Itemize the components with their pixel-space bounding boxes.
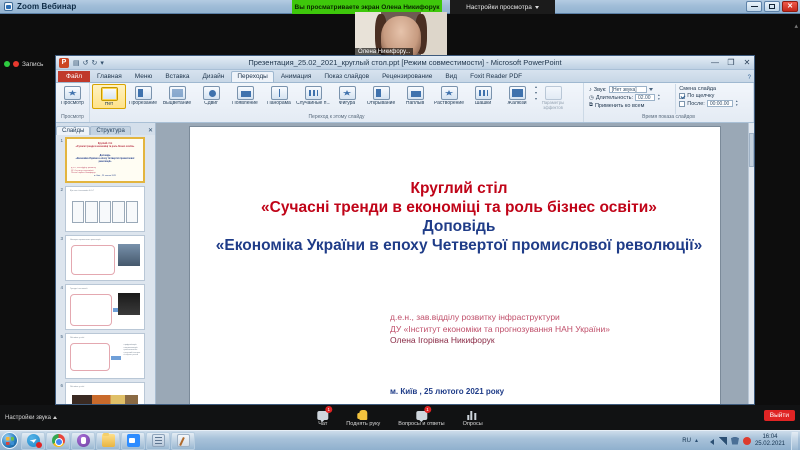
ribbon-tab-design[interactable]: Дизайн <box>196 71 230 82</box>
transition-dissolve[interactable]: Растворение <box>432 84 466 107</box>
word-icon <box>152 434 165 447</box>
view-settings-button[interactable]: Настройки просмотра <box>450 0 555 14</box>
zoom-window-title: Zoom Вебинар <box>17 2 76 11</box>
thumbnail-slide-6[interactable]: Які зміни у світі <box>65 382 145 404</box>
thumb5-list: • цифровізація• автоматизація• робототех… <box>123 344 141 357</box>
transition-shape-label: Фигура <box>339 101 355 107</box>
slide-place-date: м. Київ , 25 лютого 2021 року <box>390 387 504 396</box>
zoom-maximize-button[interactable] <box>764 1 780 12</box>
panel-collapse-arrow-icon[interactable]: ▴ <box>794 22 798 30</box>
transition-cover-label: Наплыв <box>406 101 424 107</box>
slide-title-line-2: «Сучасні тренди в економіці та роль бізн… <box>208 198 710 217</box>
advance-slide-label: Смена слайда <box>679 86 716 92</box>
slide-subtitle-line-1: д.е.н., зав.відділу розвитку інфраструкт… <box>390 312 706 324</box>
transition-random-bars-label: Случайные п... <box>296 101 330 107</box>
qa-button[interactable]: 1 Вопросы и ответы <box>398 408 444 427</box>
powerpoint-window: P ▤ ↺ ↻ ▾ Презентация_25.02_2021_круглый… <box>55 55 755 405</box>
recording-label: Запись <box>22 61 43 68</box>
apply-all-label: Применить ко всем <box>595 103 644 109</box>
taskbar-zoom-button[interactable] <box>121 432 145 450</box>
thumb4-heading: Тренди і технології <box>70 288 140 291</box>
group-caption-timing: Время показа слайдов <box>586 114 751 121</box>
thumb4-box <box>70 294 112 326</box>
speaker-video-tile[interactable]: Олена Никифору... <box>355 12 447 56</box>
leave-meeting-button[interactable]: Выйти <box>764 410 795 421</box>
recording-indicator[interactable]: Запись <box>0 55 58 73</box>
transition-fade[interactable]: Выцветание <box>160 84 194 107</box>
transition-cut-label: Прорезание <box>129 101 157 107</box>
fade-transition-icon <box>169 86 186 100</box>
start-button-icon[interactable] <box>1 432 18 449</box>
viber-icon <box>77 434 90 447</box>
language-indicator[interactable]: RU <box>682 438 691 444</box>
thumbnail-slide-3[interactable]: Четверта промислова революція <box>65 235 145 281</box>
thumbnail-number: 3 <box>58 235 63 241</box>
apply-all-icon: ⧉ <box>589 102 593 109</box>
ppt-minimize-button[interactable]: — <box>710 58 720 67</box>
slide-subtitle-block[interactable]: д.е.н., зав.відділу розвитку інфраструкт… <box>390 312 706 347</box>
polls-icon <box>467 410 478 420</box>
after-row[interactable]: После: 00:00.00 ▴▾ <box>679 100 748 107</box>
transition-random-bars[interactable]: Случайные п... <box>296 84 330 107</box>
current-slide[interactable]: Круглий стіл «Сучасні тренди в економіці… <box>190 127 720 404</box>
taskbar-app-buttons <box>21 432 195 450</box>
chrome-icon <box>52 434 65 447</box>
screen-share-banner-label: Вы просматриваете экран Олена Никифорук <box>295 4 440 11</box>
transition-split-label: Панорама <box>267 101 291 107</box>
thumb1-subtitle: Доповідь«Економіка України в епоху Четве… <box>70 155 140 164</box>
sound-label: Звук: <box>594 87 607 93</box>
ribbon-tab-animation[interactable]: Анимация <box>275 71 318 82</box>
network-icon[interactable] <box>719 437 727 445</box>
gallery-expand-icon[interactable]: ▾ <box>535 96 537 101</box>
windows-taskbar: RU ▴ 16:04 25.02.2021 <box>0 430 800 450</box>
raise-hand-label: Поднять руку <box>346 421 380 427</box>
effect-options-button[interactable]: Параметры эффектов <box>538 84 568 110</box>
transition-uncover-label: Открывание <box>367 101 395 107</box>
slide-title-line-3: Доповідь <box>208 217 710 236</box>
push-transition-icon <box>203 86 220 100</box>
slide-title-line-4: «Економіка України в епоху Четвертої про… <box>208 236 710 255</box>
wipe-transition-icon <box>237 86 254 100</box>
timing-left-column: ♪ Звук: [Нет звука] ◷ Длительность: 02.0… <box>586 84 675 114</box>
slide-area-scrollbar[interactable] <box>748 123 754 404</box>
powerpoint-window-controls: — ❐ ✕ <box>710 58 752 67</box>
thumb1-author: д.е.н., зав.відділу розвиткуДУ «Інститут… <box>71 167 139 175</box>
nav-pane-close-icon[interactable]: ✕ <box>148 127 153 134</box>
ribbon-group-timing: ♪ Звук: [Нет звука] ◷ Длительность: 02.0… <box>584 83 754 122</box>
zoom-webinar-window: Zoom Вебинар ✕ Вы просматриваете экран О… <box>0 0 800 450</box>
transition-dissolve-label: Растворение <box>434 101 464 107</box>
thumbnail-item[interactable]: 1 Круглий стіл«Сучасні тренди в економіц… <box>58 137 153 183</box>
group-caption-transitions: Переход к этому слайду <box>92 114 581 121</box>
transition-none[interactable]: Нет <box>92 84 126 109</box>
thumbnail-item[interactable]: 5 Які зміни у світі • цифровізація• авто… <box>58 333 153 379</box>
qa-icon-wrap: 1 <box>416 408 427 420</box>
cover-transition-icon <box>407 86 424 100</box>
transition-cut[interactable]: Прорезание <box>126 84 160 107</box>
powerpoint-title-bar: P ▤ ↺ ↻ ▾ Презентация_25.02_2021_круглый… <box>56 56 754 70</box>
transition-checkerboard-label: Шашки <box>475 101 491 107</box>
chevron-up-icon[interactable] <box>53 416 57 419</box>
slide-thumbnail-list[interactable]: 1 Круглий стіл«Сучасні тренди в економіц… <box>56 135 155 404</box>
clock-time: 16:04 <box>762 434 777 441</box>
ribbon-tab-slideshow[interactable]: Показ слайдов <box>318 71 375 82</box>
on-click-label: По щелчку <box>687 93 714 99</box>
thumb3-photo <box>118 244 140 266</box>
taskbar-chrome-button[interactable] <box>46 432 70 450</box>
slide-title-line-1: Круглий стіл <box>208 179 710 198</box>
gallery-scroll-down-icon[interactable]: ▾ <box>535 90 537 95</box>
transition-uncover[interactable]: Открывание <box>364 84 398 107</box>
ribbon-content: Просмотр Просмотр Нет Прорезание <box>56 83 754 123</box>
thumbnail-item[interactable]: 6 Які зміни у світі <box>58 382 153 404</box>
after-stepper[interactable]: ▴▾ <box>736 100 738 107</box>
scrollbar-thumb[interactable] <box>749 133 754 167</box>
transition-fade-label: Выцветание <box>163 101 191 107</box>
thumb3-box <box>71 245 115 275</box>
preview-button[interactable]: Просмотр <box>58 84 87 107</box>
transition-shape[interactable]: Фигура <box>330 84 364 107</box>
zoom-control-bar: Настройки звука 1 Чат Поднять руку <box>0 405 800 430</box>
zoom-minimize-button[interactable] <box>746 1 762 12</box>
ribbon-group-transitions: Нет Прорезание Выцветание Сдвиг <box>90 83 584 122</box>
uncover-transition-icon <box>373 86 390 100</box>
duration-icon: ◷ <box>589 95 594 101</box>
ribbon-tab-file[interactable]: Файл <box>58 71 90 82</box>
thumb5-arrow-icon <box>111 356 121 360</box>
taskbar-explorer-button[interactable] <box>96 432 120 450</box>
chat-button[interactable]: 1 Чат <box>317 408 328 427</box>
thumbnail-number: 2 <box>58 186 63 192</box>
help-icon[interactable]: ? <box>748 75 751 81</box>
thumbnail-number: 6 <box>58 382 63 388</box>
ribbon-tab-view[interactable]: Вид <box>439 71 463 82</box>
recording-stop-dot-icon <box>13 61 19 67</box>
sound-select[interactable]: [Нет звука] <box>609 86 647 93</box>
slide-subtitle-line-2: ДУ «Інститут економіки та прогнозування … <box>390 324 706 336</box>
thumbnail-item[interactable]: 4 Тренди і технології <box>58 284 153 330</box>
duration-row[interactable]: ◷ Длительность: 02.00 ▴▾ <box>589 94 672 101</box>
ribbon-tab-insert[interactable]: Вставка <box>159 71 195 82</box>
thumb3-heading: Четверта промислова революція <box>70 239 140 242</box>
transition-checkerboard[interactable]: Шашки <box>466 84 500 107</box>
transition-push-label: Сдвиг <box>204 101 218 107</box>
gallery-scroll-up-icon[interactable]: ▴ <box>535 84 537 89</box>
preview-button-label: Просмотр <box>61 101 84 107</box>
thumbnail-slide-1[interactable]: Круглий стіл«Сучасні тренди в економіці … <box>65 137 145 183</box>
thumbnail-slide-2[interactable]: Що таке «економіка 4.0»? <box>65 186 145 232</box>
raise-hand-icon <box>359 410 367 420</box>
show-desktop-button[interactable] <box>791 432 798 450</box>
zoom-toolbar-items: 1 Чат Поднять руку 1 Вопросы и ответы <box>317 408 482 427</box>
thumbnail-item[interactable]: 3 Четверта промислова революція <box>58 235 153 281</box>
antivirus-icon[interactable] <box>743 437 751 445</box>
transition-gallery: Нет Прорезание Выцветание Сдвиг <box>92 84 581 114</box>
tray-expand-icon[interactable]: ▴ <box>695 437 703 445</box>
transition-blinds-label: Жалюзи <box>507 101 526 107</box>
blank-slide-icon <box>101 87 118 101</box>
random-bars-icon <box>305 86 322 100</box>
thumb5-heading: Які зміни у світі <box>70 337 140 340</box>
ppt-close-button[interactable]: ✕ <box>742 58 752 67</box>
taskbar-word-button[interactable] <box>146 432 170 450</box>
sound-icon: ♪ <box>589 87 592 93</box>
polls-label: Опросы <box>463 421 483 427</box>
ribbon-tab-home[interactable]: Главная <box>91 71 128 82</box>
thumb1-title: Круглий стіл«Сучасні тренди в економіці … <box>70 143 140 149</box>
checkerboard-icon <box>475 86 492 100</box>
clock[interactable]: 16:04 25.02.2021 <box>755 434 785 448</box>
after-input[interactable]: 00:00.00 <box>707 100 733 107</box>
chat-badge: 1 <box>325 406 332 413</box>
qa-badge: 1 <box>424 406 431 413</box>
ribbon-group-preview: Просмотр Просмотр <box>56 83 90 122</box>
ribbon-tab-foxit[interactable]: Foxit Reader PDF <box>464 71 528 82</box>
transition-split[interactable]: Панорама <box>262 84 296 107</box>
clock-date: 25.02.2021 <box>755 441 785 448</box>
taskbar-telegram-button[interactable] <box>21 432 45 450</box>
duration-input[interactable]: 02.00 <box>635 94 655 101</box>
zoom-icon <box>127 434 140 447</box>
zoom-app-icon <box>4 2 13 11</box>
thumb5-box <box>70 343 110 371</box>
system-tray: RU ▴ 16:04 25.02.2021 <box>682 432 798 450</box>
nav-tab-slides[interactable]: Слайды <box>56 126 90 135</box>
effect-options-label: Параметры эффектов <box>538 101 568 110</box>
slide-editing-area[interactable]: Круглий стіл «Сучасні тренди в економіці… <box>156 123 754 404</box>
raise-hand-icon-wrap <box>359 408 367 420</box>
volume-icon[interactable] <box>707 437 715 445</box>
cut-transition-icon <box>135 86 152 100</box>
thumb6-heading: Які зміни у світі <box>70 386 140 389</box>
split-transition-icon <box>271 86 288 100</box>
transition-none-label: Нет <box>105 102 114 108</box>
thumbnail-item[interactable]: 2 Що таке «економіка 4.0»? <box>58 186 153 232</box>
thumb2-heading: Що таке «економіка 4.0»? <box>70 190 140 193</box>
transition-cover[interactable]: Наплыв <box>398 84 432 107</box>
ribbon-tab-menu[interactable]: Меню <box>129 71 159 82</box>
powerpoint-body: Слайды Структура ✕ 1 Круглий стіл«Сучасн… <box>56 123 754 404</box>
thumbnail-number: 5 <box>58 333 63 339</box>
duration-stepper[interactable]: ▴▾ <box>658 94 660 101</box>
ribbon-tab-review[interactable]: Рецензирование <box>376 71 438 82</box>
thumbnail-number: 4 <box>58 284 63 290</box>
paint-icon <box>177 434 190 447</box>
thumbnail-slide-4[interactable]: Тренди і технології <box>65 284 145 330</box>
duration-label: Длительность: <box>596 95 633 101</box>
thumb2-table <box>72 201 138 223</box>
ribbon-tab-strip: Файл Главная Меню Вставка Дизайн Переход… <box>56 70 754 83</box>
chevron-down-icon <box>535 6 539 9</box>
zoom-window-controls: ✕ <box>746 1 798 12</box>
preview-icon <box>64 86 81 100</box>
ppt-restore-button[interactable]: ❐ <box>726 58 736 67</box>
slide-subtitle-line-3: Олена Ігорівна Никифорук <box>390 335 706 347</box>
zoom-close-button[interactable]: ✕ <box>782 1 798 12</box>
ribbon-tab-transitions[interactable]: Переходы <box>231 71 274 82</box>
on-click-checkbox[interactable] <box>679 93 685 99</box>
timing-right-column: Смена слайда По щелчку После: 00:00.00 ▴… <box>675 84 751 114</box>
after-label: После: <box>687 101 705 107</box>
sound-row[interactable]: ♪ Звук: [Нет звука] <box>589 86 672 93</box>
thumb4-book-cover <box>118 293 140 315</box>
slide-title-block[interactable]: Круглий стіл «Сучасні тренди в економіці… <box>208 179 710 255</box>
taskbar-viber-button[interactable] <box>71 432 95 450</box>
close-icon: ✕ <box>787 3 793 10</box>
blinds-transition-icon <box>509 86 526 100</box>
shape-transition-icon <box>339 86 356 100</box>
recording-active-dot-icon <box>4 61 10 67</box>
polls-icon-wrap <box>467 408 478 420</box>
transition-wipe[interactable]: Появление <box>228 84 262 107</box>
thumb6-image <box>72 395 138 404</box>
powerpoint-document-title: Презентация_25.02_2021_круглый стол.ppt … <box>56 58 754 67</box>
audio-settings-label: Настройки звука <box>5 415 51 421</box>
telegram-icon <box>27 434 40 447</box>
sound-dropdown-icon[interactable] <box>649 88 653 91</box>
audio-settings-button[interactable]: Настройки звука <box>5 415 57 421</box>
after-checkbox[interactable] <box>679 101 685 107</box>
taskbar-paint-button[interactable] <box>171 432 195 450</box>
transition-wipe-label: Появление <box>232 101 258 107</box>
effect-options-icon <box>545 86 562 100</box>
raise-hand-button[interactable]: Поднять руку <box>346 408 380 427</box>
nav-pane-tabs: Слайды Структура ✕ <box>56 123 155 135</box>
group-caption-preview: Просмотр <box>58 114 87 121</box>
transition-blinds[interactable]: Жалюзи <box>500 84 534 107</box>
slide-navigation-pane: Слайды Структура ✕ 1 Круглий стіл«Сучасн… <box>56 123 156 404</box>
view-settings-label: Настройки просмотра <box>466 4 532 11</box>
apply-to-all-button[interactable]: ⧉ Применить ко всем <box>589 102 672 109</box>
action-center-icon[interactable] <box>731 437 739 445</box>
thumbnail-slide-5[interactable]: Які зміни у світі • цифровізація• автома… <box>65 333 145 379</box>
folder-icon <box>102 434 115 447</box>
dissolve-transition-icon <box>441 86 458 100</box>
transition-push[interactable]: Сдвиг <box>194 84 228 107</box>
nav-tab-outline[interactable]: Структура <box>90 126 130 135</box>
thumb1-place: м. Київ , 25 лютого 2021 <box>71 175 139 178</box>
thumbnail-number: 1 <box>58 137 63 143</box>
polls-button[interactable]: Опросы <box>463 408 483 427</box>
advance-slide-title: Смена слайда <box>679 86 748 92</box>
chat-icon-wrap: 1 <box>317 408 328 420</box>
